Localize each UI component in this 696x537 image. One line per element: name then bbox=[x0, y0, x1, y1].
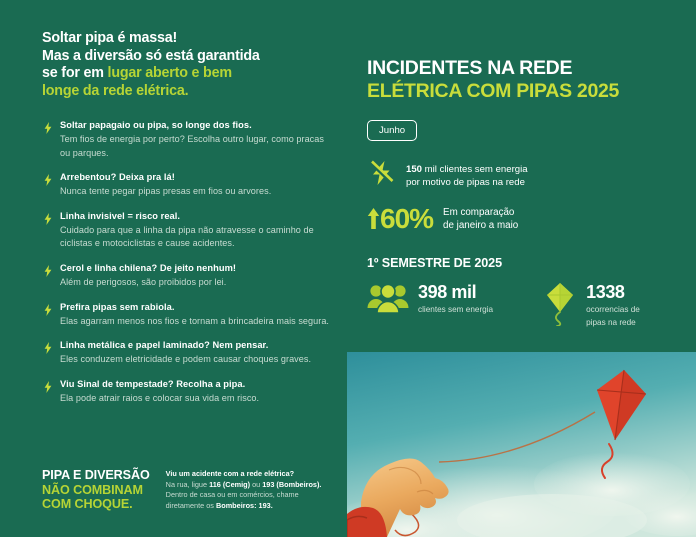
no-power-bolt-icon bbox=[367, 158, 397, 193]
tip-description: Além de perigosos, são proibidos por lei… bbox=[60, 276, 334, 289]
list-item: Linha metálica e papel laminado? Nem pen… bbox=[42, 339, 334, 366]
headline-line-2: Mas a diversão só está garantida bbox=[42, 48, 260, 64]
arrow-up-icon bbox=[367, 207, 380, 231]
infographic-page: Soltar pipa é massa! Mas a diversão só e… bbox=[0, 0, 696, 537]
lightning-bolt-icon bbox=[44, 341, 52, 353]
stat-percent: 60% Em comparação de janeiro a maio bbox=[367, 205, 678, 233]
percent-value-group: 60% bbox=[367, 205, 433, 233]
stat-occurrences-text: 1338 ocorrencias de pipas na rede bbox=[586, 282, 640, 328]
lightning-bolt-icon bbox=[44, 121, 52, 133]
stat-outage-value: 150 bbox=[406, 164, 422, 175]
stat-occurrences: 1338 ocorrencias de pipas na rede bbox=[543, 282, 640, 331]
kite-photo-illustration bbox=[347, 352, 696, 537]
stat-outage-line-1: mil clientes sem energia bbox=[422, 164, 528, 175]
emergency-line-1-c: ou bbox=[250, 480, 262, 489]
headline-line-1: Soltar pipa é massa! bbox=[42, 30, 177, 46]
tip-title: Linha metálica e papel laminado? Nem pen… bbox=[60, 339, 334, 352]
tip-title: Arrebentou? Deixa pra lá! bbox=[60, 171, 334, 184]
semester-stats: 398 mil clientes sem energia 1338 bbox=[367, 282, 678, 331]
people-group-icon bbox=[367, 282, 409, 319]
stat-outage-line-2: por motivo de pipas na rede bbox=[406, 177, 525, 188]
slogan: PIPA E DIVERSÃO NÃO COMBINAM COM CHOQUE. bbox=[42, 468, 150, 512]
stat-outage: 150 mil clientes sem energia por motivo … bbox=[367, 158, 678, 193]
tip-title: Linha invisivel = risco real. bbox=[60, 210, 334, 223]
stat-outage-text: 150 mil clientes sem energia por motivo … bbox=[406, 163, 528, 189]
emergency-info: Viu um acidente com a rede elétrica? Na … bbox=[166, 468, 322, 512]
phone-bombeiros: 193 (Bombeiros). bbox=[262, 480, 321, 489]
emergency-line-2: Dentro de casa ou em comércios, chame bbox=[166, 490, 299, 499]
tip-description: Eles conduzem eletricidade e podem causa… bbox=[60, 353, 334, 366]
stat-clients-value: 398 mil bbox=[418, 282, 493, 302]
stat-clients-label: clientes sem energia bbox=[418, 304, 493, 315]
stat-occurrences-label-2: pipas na rede bbox=[586, 317, 640, 328]
phone-bombeiros-direct: Bombeiros: 193. bbox=[216, 501, 273, 510]
list-item: Linha invisivel = risco real. Cuidado pa… bbox=[42, 210, 334, 250]
tip-description: Elas agarram menos nos fios e tornam a b… bbox=[60, 315, 334, 328]
left-panel: Soltar pipa é massa! Mas a diversão só e… bbox=[0, 0, 348, 537]
title-line-1: INCIDENTES NA REDE bbox=[367, 57, 678, 80]
phone-cemig: 116 (Cemig) bbox=[209, 480, 250, 489]
lightning-bolt-icon bbox=[44, 303, 52, 315]
status-badge: Junho bbox=[367, 120, 417, 141]
lightning-bolt-icon bbox=[44, 173, 52, 185]
emergency-line-1-a: Na rua, ligue bbox=[166, 480, 209, 489]
title-line-2: ELÉTRICA COM PIPAS 2025 bbox=[367, 80, 678, 103]
slogan-line-3: COM CHOQUE. bbox=[42, 497, 133, 511]
headline-line-4-accent: longe da rede elétrica. bbox=[42, 83, 188, 99]
lightning-bolt-icon bbox=[44, 212, 52, 224]
tip-title: Soltar papagaio ou pipa, so longe dos fi… bbox=[60, 119, 334, 132]
slogan-line-2: NÃO COMBINAM bbox=[42, 483, 143, 497]
list-item: Viu Sinal de tempestade? Recolha a pipa.… bbox=[42, 378, 334, 405]
tip-title: Prefira pipas sem rabiola. bbox=[60, 301, 334, 314]
percent-note-line-2: de janeiro a maio bbox=[443, 220, 518, 231]
headline-line-3-plain: se for em bbox=[42, 65, 108, 81]
page-title: INCIDENTES NA REDE ELÉTRICA COM PIPAS 20… bbox=[367, 57, 678, 103]
lightning-bolt-icon bbox=[44, 264, 52, 276]
stat-occurrences-value: 1338 bbox=[586, 282, 640, 302]
list-item: Prefira pipas sem rabiola. Elas agarram … bbox=[42, 301, 334, 328]
tip-description: Tem fios de energia por perto? Escolha o… bbox=[60, 133, 334, 159]
list-item: Soltar papagaio ou pipa, so longe dos fi… bbox=[42, 119, 334, 159]
kite-icon bbox=[543, 282, 577, 331]
emergency-title: Viu um acidente com a rede elétrica? bbox=[166, 469, 322, 480]
tip-title: Viu Sinal de tempestade? Recolha a pipa. bbox=[60, 378, 334, 391]
stat-clients: 398 mil clientes sem energia bbox=[367, 282, 493, 331]
percent-note-line-1: Em comparação bbox=[443, 207, 514, 218]
lightning-bolt-icon bbox=[44, 380, 52, 392]
tip-title: Cerol e linha chilena? De jeito nenhum! bbox=[60, 262, 334, 275]
tips-list: Soltar papagaio ou pipa, so longe dos fi… bbox=[42, 119, 334, 405]
list-item: Arrebentou? Deixa pra lá! Nunca tente pe… bbox=[42, 171, 334, 198]
kite-photo bbox=[347, 352, 696, 537]
tip-description: Nunca tente pegar pipas presas em fios o… bbox=[60, 185, 334, 198]
list-item: Cerol e linha chilena? De jeito nenhum! … bbox=[42, 262, 334, 289]
headline-line-3-accent: lugar aberto e bem bbox=[108, 65, 232, 81]
semester-title: 1º SEMESTRE DE 2025 bbox=[367, 256, 678, 270]
footer: PIPA E DIVERSÃO NÃO COMBINAM COM CHOQUE.… bbox=[42, 468, 342, 512]
tip-description: Ela pode atrair raios e colocar sua vida… bbox=[60, 392, 334, 405]
stat-occurrences-label-1: ocorrencias de bbox=[586, 304, 640, 315]
slogan-line-1: PIPA E DIVERSÃO bbox=[42, 468, 150, 482]
percent-value: 60% bbox=[380, 205, 433, 233]
stat-clients-text: 398 mil clientes sem energia bbox=[418, 282, 493, 315]
emergency-line-3-a: diretamente os bbox=[166, 501, 216, 510]
tip-description: Cuidado para que a linha da pipa não atr… bbox=[60, 224, 334, 250]
percent-note: Em comparação de janeiro a maio bbox=[443, 206, 518, 232]
headline: Soltar pipa é massa! Mas a diversão só e… bbox=[42, 30, 334, 100]
